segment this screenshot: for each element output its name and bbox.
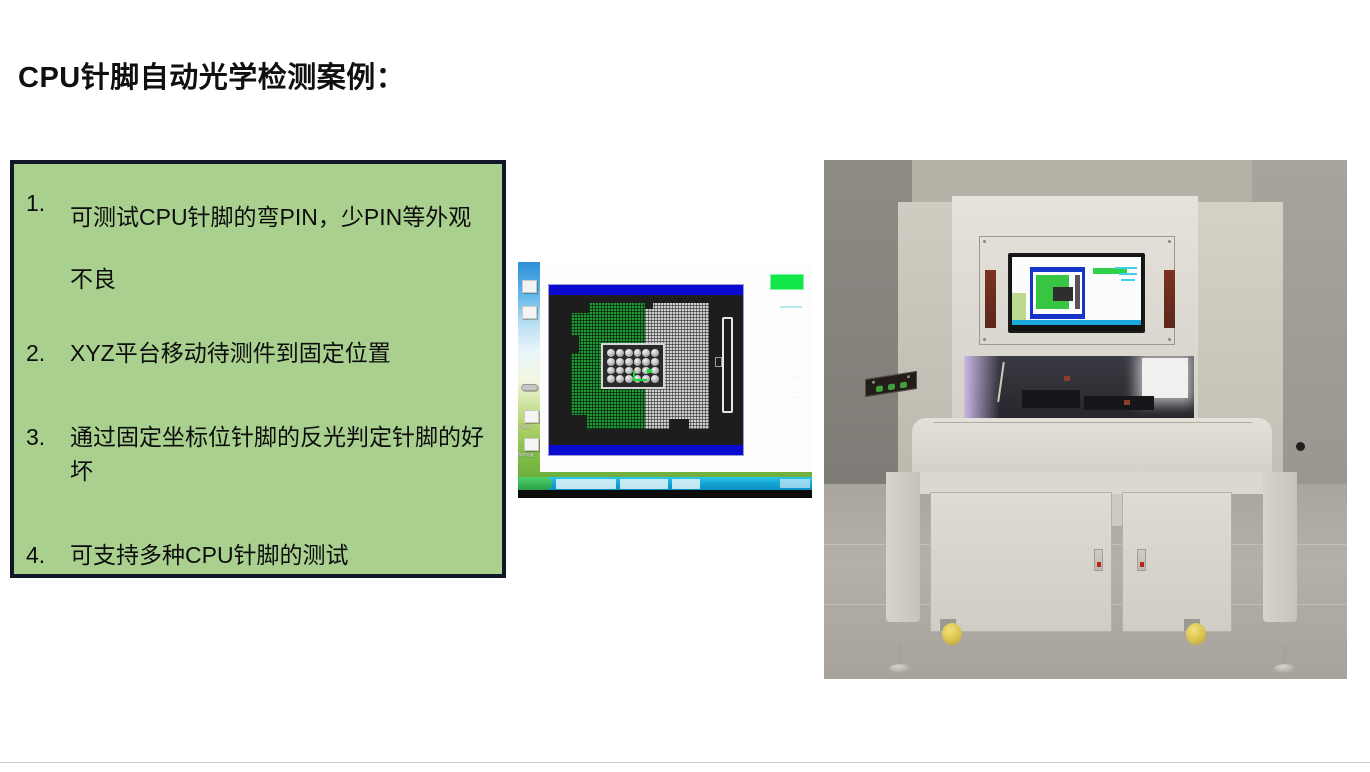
taskbar-item[interactable]	[556, 479, 616, 489]
list-item-number: 2.	[26, 336, 70, 370]
cabinet-door-left[interactable]	[930, 492, 1112, 632]
screen-socket-lever	[1075, 275, 1080, 309]
list-item: 2. XYZ平台移动待测件到固定位置	[14, 336, 502, 370]
machine-body-seam	[934, 422, 1252, 423]
socket-notch	[571, 335, 579, 353]
pin-contact	[651, 358, 659, 366]
screen-divider	[1119, 273, 1137, 275]
control-button[interactable]	[900, 381, 907, 388]
cpu-socket-image	[549, 295, 743, 445]
leveling-foot-stem	[1283, 645, 1287, 665]
slide-canvas: CPU针脚自动光学检测案例： 1. 可测试CPU针脚的弯PIN，少PIN等外观不…	[0, 0, 1370, 772]
list-item-number: 3.	[26, 420, 70, 454]
desktop-icon-label: 回收站	[519, 424, 531, 430]
result-readout-text: - - - -	[793, 394, 802, 399]
pin-contact	[616, 358, 624, 366]
cpu-die-region	[601, 343, 665, 389]
inspection-image-frame	[548, 284, 744, 456]
monitor-side-rail	[1164, 270, 1175, 328]
pin-contact	[625, 367, 633, 375]
desktop-icon	[522, 306, 537, 319]
cabinet-lintel	[920, 472, 1268, 494]
list-item-text: 可支持多种CPU针脚的测试	[70, 538, 494, 572]
pin-contact	[625, 349, 633, 357]
control-button[interactable]	[876, 385, 883, 392]
chamber-indicator	[1064, 376, 1070, 381]
page-title: CPU针脚自动光学检测案例：	[18, 54, 405, 96]
pin-contact	[625, 375, 633, 383]
list-item: 1. 可测试CPU针脚的弯PIN，少PIN等外观不良	[14, 186, 502, 310]
monitor-side-rail	[985, 270, 996, 328]
pin-contact	[625, 358, 633, 366]
system-tray[interactable]	[780, 479, 810, 488]
desktop-icon	[522, 280, 537, 293]
desktop-icon	[524, 438, 539, 451]
pin-contact	[607, 358, 615, 366]
machine-monitor[interactable]	[1008, 253, 1145, 333]
latch-indicator	[1140, 562, 1144, 567]
pin-contact	[651, 349, 659, 357]
pin-contact	[607, 367, 615, 375]
pin-contact	[607, 375, 615, 383]
list-item-text: 可测试CPU针脚的弯PIN，少PIN等外观不良	[70, 186, 494, 310]
start-button[interactable]	[518, 477, 552, 490]
result-readout-text: - - - - -	[793, 374, 804, 379]
latch-indicator	[1097, 562, 1101, 567]
screw-icon	[1168, 240, 1171, 243]
pin-contact	[634, 349, 642, 357]
cabinet-door-right[interactable]	[1122, 492, 1232, 632]
screw-icon	[983, 338, 986, 341]
leveling-foot-pad	[889, 664, 911, 673]
machine-monitor-screen	[1012, 257, 1141, 325]
pin-contact	[607, 349, 615, 357]
socket-notch	[571, 415, 587, 429]
screen-taskbar	[1012, 320, 1141, 325]
measurement-point-icon	[647, 369, 652, 373]
power-knob[interactable]	[1296, 442, 1305, 451]
socket-notch	[645, 303, 653, 309]
chamber-component	[1022, 390, 1080, 408]
pin-contact	[642, 349, 650, 357]
chamber-indicator	[1124, 400, 1130, 405]
cabinet-leg	[1263, 472, 1297, 622]
screw-icon	[1168, 338, 1171, 341]
screen-side-panel	[1012, 293, 1026, 321]
caster-wheel	[1186, 623, 1206, 645]
chamber-lighting-panel	[1142, 358, 1188, 398]
status-badge	[770, 274, 804, 290]
screw-icon	[907, 375, 910, 378]
chamber-component	[1084, 396, 1154, 410]
socket-notch	[571, 303, 589, 313]
screen-inspection-frame	[1030, 267, 1085, 319]
screw-icon	[983, 240, 986, 243]
taskbar-item[interactable]	[620, 479, 668, 489]
aoi-machine-photo	[824, 160, 1347, 679]
screen-socket-image	[1033, 272, 1082, 314]
screen-cpu-die	[1053, 287, 1073, 301]
caster-wheel	[942, 623, 962, 645]
pin-contact	[616, 375, 624, 383]
taskbar-item[interactable]	[672, 479, 700, 489]
list-item-text: 通过固定坐标位针脚的反光判定针脚的好坏	[70, 420, 494, 488]
bullet-list: 1. 可测试CPU针脚的弯PIN，少PIN等外观不良 2. XYZ平台移动待测件…	[14, 186, 502, 572]
pin-contact	[651, 367, 659, 375]
socket-lever	[722, 317, 733, 413]
desktop-icon-label: 我的电脑	[518, 452, 534, 458]
pin-contact	[616, 349, 624, 357]
screen-divider	[1115, 267, 1137, 269]
monitor-bezel	[518, 490, 812, 498]
screen-divider	[1121, 279, 1135, 281]
screw-icon	[872, 381, 875, 384]
cabinet-leg	[886, 472, 920, 622]
aoi-app-window[interactable]: - - - - - - - - -	[540, 262, 812, 472]
leveling-foot-pad	[1274, 664, 1296, 673]
aoi-software-screenshot-photo: 回收站 我的电脑	[518, 262, 812, 498]
windows-taskbar[interactable]	[518, 477, 812, 490]
leveling-foot-stem	[898, 645, 902, 665]
list-item-number: 1.	[26, 186, 70, 220]
pin-contact	[616, 367, 624, 375]
measurement-cursor-icon	[633, 371, 647, 381]
bullet-panel: 1. 可测试CPU针脚的弯PIN，少PIN等外观不良 2. XYZ平台移动待测件…	[10, 160, 506, 578]
desktop-icon	[524, 410, 539, 423]
inspection-chamber	[964, 356, 1194, 418]
control-button[interactable]	[888, 383, 895, 390]
pin-contact	[642, 358, 650, 366]
door-latch[interactable]	[1137, 549, 1146, 571]
machine-body-top	[912, 418, 1272, 474]
list-item-number: 4.	[26, 538, 70, 572]
socket-lever-tab	[715, 357, 722, 367]
divider	[780, 306, 802, 308]
chamber-lighting-glow	[964, 356, 1000, 418]
list-item: 4. 可支持多种CPU针脚的测试	[14, 538, 502, 572]
desktop-icon	[521, 384, 538, 391]
door-latch[interactable]	[1094, 549, 1103, 571]
list-item: 3. 通过固定坐标位针脚的反光判定针脚的好坏	[14, 420, 502, 488]
socket-notch	[669, 419, 689, 429]
pin-contact	[651, 375, 659, 383]
footer-divider	[0, 762, 1370, 763]
list-item-text: XYZ平台移动待测件到固定位置	[70, 336, 494, 370]
pin-contact	[634, 358, 642, 366]
